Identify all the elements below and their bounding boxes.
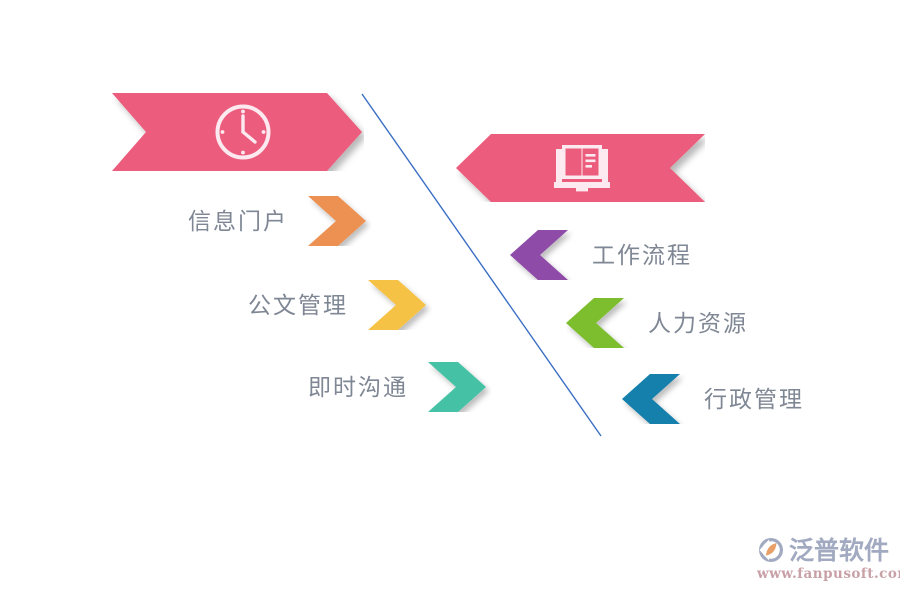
chevron-left-icon: [566, 298, 630, 348]
chevron-left-icon: [510, 230, 574, 280]
chevron-right-icon: [308, 196, 372, 246]
item-label-instant-messaging: 即时沟通: [308, 376, 408, 399]
item-label-document-management: 公文管理: [248, 294, 348, 317]
fanpu-logo-icon: [757, 536, 785, 564]
watermark: 泛普软件 www.fanpusoft.com: [757, 536, 893, 590]
chevron-right-icon: [368, 280, 432, 330]
item-label-administrative-management: 行政管理: [704, 388, 804, 411]
watermark-url: www.fanpusoft.com: [757, 568, 893, 582]
item-workflow[interactable]: 工作流程: [510, 230, 692, 280]
item-human-resources[interactable]: 人力资源: [566, 298, 748, 348]
item-label-workflow: 工作流程: [592, 244, 692, 267]
chevron-left-icon: [622, 374, 686, 424]
diagram-canvas: 信息门户 公文管理 即时沟通: [0, 0, 900, 600]
item-label-info-portal: 信息门户: [188, 210, 288, 233]
chevron-right-icon: [428, 362, 492, 412]
banner-book[interactable]: [455, 134, 705, 202]
item-instant-messaging[interactable]: 即时沟通: [308, 362, 492, 412]
watermark-brand-text: 泛普软件: [789, 538, 889, 563]
item-document-management[interactable]: 公文管理: [248, 280, 432, 330]
item-label-human-resources: 人力资源: [648, 312, 748, 335]
watermark-brand-row: 泛普软件: [757, 536, 893, 564]
open-book-icon: [552, 141, 612, 195]
item-administrative-management[interactable]: 行政管理: [622, 374, 804, 424]
banner-clock[interactable]: [112, 93, 364, 171]
clock-icon: [212, 101, 274, 163]
item-info-portal[interactable]: 信息门户: [188, 196, 372, 246]
diagonal-divider-line: [0, 0, 900, 600]
